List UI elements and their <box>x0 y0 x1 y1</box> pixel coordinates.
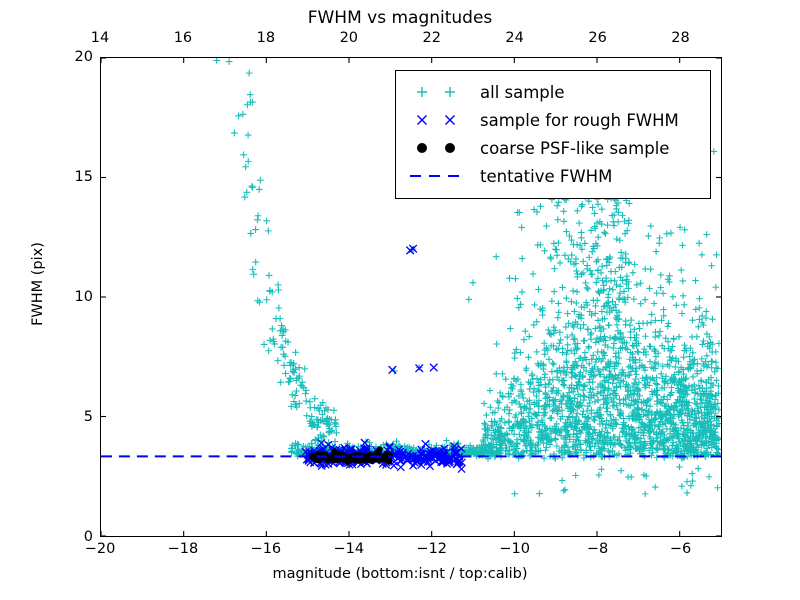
legend-marker-dashedline <box>404 162 476 190</box>
legend-marker-x <box>404 106 476 134</box>
legend-label: all sample <box>476 83 565 102</box>
x-tick-top: 18 <box>257 30 275 46</box>
x-axis-label: magnitude (bottom:isnt / top:calib) <box>0 566 800 582</box>
legend-item[interactable]: sample for rough FWHM <box>404 106 700 134</box>
figure: FWHM vs magnitudes 05101520 magnitude (b… <box>0 0 800 600</box>
x-tick-bottom: −6 <box>670 541 691 557</box>
y-tick: 20 <box>75 49 93 65</box>
y-tick: 5 <box>84 409 93 425</box>
y-tick: 15 <box>75 169 93 185</box>
legend-item[interactable]: coarse PSF-like sample <box>404 134 700 162</box>
legend: all samplesample for rough FWHMcoarse PS… <box>395 70 711 199</box>
y-axis-label: FWHM (pix) <box>30 184 46 384</box>
x-tick-bottom: −10 <box>499 541 530 557</box>
y-axis-ticks: 05101520 <box>40 0 93 600</box>
x-tick-bottom: −18 <box>168 541 199 557</box>
x-tick-top: 16 <box>174 30 192 46</box>
x-tick-top: 22 <box>422 30 440 46</box>
legend-label: coarse PSF-like sample <box>476 139 669 158</box>
y-tick: 10 <box>75 289 93 305</box>
x-tick-top: 26 <box>588 30 606 46</box>
x-tick-bottom: −20 <box>85 541 116 557</box>
x-tick-bottom: −14 <box>333 541 364 557</box>
legend-label: tentative FWHM <box>476 167 612 186</box>
legend-marker- <box>404 78 476 106</box>
x-tick-top: 14 <box>91 30 109 46</box>
legend-marker-o <box>404 134 476 162</box>
x-tick-top: 28 <box>671 30 689 46</box>
x-tick-bottom: −8 <box>587 541 608 557</box>
x-tick-top: 24 <box>505 30 523 46</box>
x-tick-bottom: −16 <box>251 541 282 557</box>
legend-item[interactable]: tentative FWHM <box>404 162 700 190</box>
x-tick-top: 20 <box>340 30 358 46</box>
legend-item[interactable]: all sample <box>404 78 700 106</box>
x-tick-bottom: −12 <box>416 541 447 557</box>
chart-title: FWHM vs magnitudes <box>0 8 800 28</box>
legend-label: sample for rough FWHM <box>476 111 679 130</box>
